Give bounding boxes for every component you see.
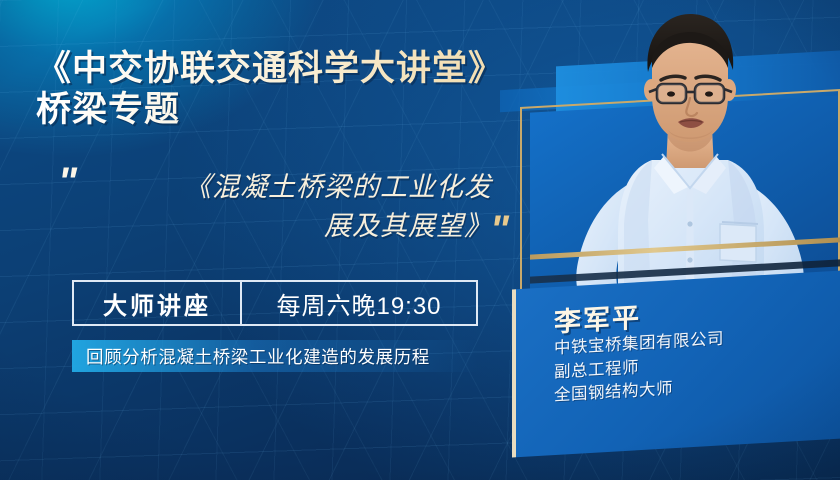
vignette-overlay xyxy=(0,0,840,480)
poster-canvas: 李军平 中铁宝桥集团有限公司 副总工程师 全国钢结构大师 《中交协联交通科学大讲… xyxy=(0,0,840,480)
